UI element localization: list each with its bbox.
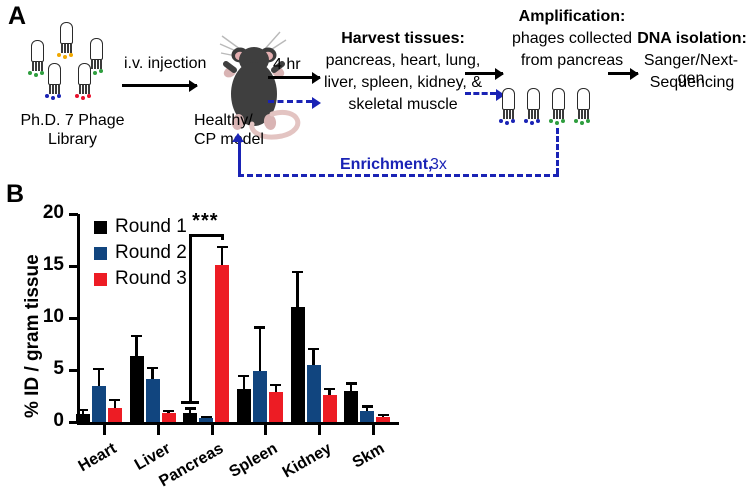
error-bar-cap xyxy=(324,388,335,390)
y-tick xyxy=(69,317,78,320)
error-bar-cap xyxy=(346,382,357,384)
phage-head xyxy=(552,88,565,110)
significance-bracket-left-cap xyxy=(181,401,199,404)
significance-stars: *** xyxy=(192,210,218,233)
enrichment-loop-vertical-left xyxy=(238,141,241,175)
phage-tail-fibers xyxy=(57,53,76,59)
legend-item: Round 3 xyxy=(94,268,187,290)
phage-head xyxy=(527,88,540,110)
x-tick xyxy=(211,425,214,435)
amplification-line2: from pancreas xyxy=(494,52,650,70)
error-bar-cap xyxy=(163,410,174,412)
bar xyxy=(108,408,122,422)
bar xyxy=(146,379,160,422)
x-axis xyxy=(77,422,399,425)
error-bar-cap xyxy=(147,367,158,369)
phage-head xyxy=(502,88,515,110)
bar xyxy=(183,413,197,422)
enrichment-loop-vertical-right xyxy=(556,128,559,174)
bar xyxy=(360,411,374,422)
significance-bracket-top xyxy=(189,234,224,237)
phage-tail-fibers xyxy=(549,119,568,125)
enrichment-label: Enrichment, xyxy=(340,156,432,174)
bar-chart: 05101520% ID / gram tissueHeartLiverPanc… xyxy=(0,188,430,488)
phage-icon xyxy=(552,88,568,125)
phage-icon xyxy=(577,88,593,125)
error-bar-cap xyxy=(109,399,120,401)
phage-head xyxy=(78,63,91,85)
mouse-label-line2: CP model xyxy=(194,131,264,149)
phage-neck xyxy=(31,62,44,71)
error-bar xyxy=(312,348,314,365)
bar xyxy=(323,395,337,422)
phage-neck xyxy=(502,110,515,119)
phage-head xyxy=(31,40,44,62)
error-bar xyxy=(259,326,261,371)
harvest-title: Harvest tissues: xyxy=(318,30,488,48)
error-bar-cap xyxy=(217,246,228,248)
phage-tail-fibers xyxy=(45,94,64,100)
phage-icon xyxy=(502,88,518,125)
phage-tail-fibers xyxy=(524,119,543,125)
amplification-line1: phages collected xyxy=(494,30,650,48)
phage-head xyxy=(60,22,73,44)
phage-icon xyxy=(48,63,64,100)
error-bar-cap xyxy=(201,416,212,418)
phage-neck xyxy=(527,110,540,119)
chart-legend: Round 1Round 2Round 3 xyxy=(94,216,187,294)
phage-head xyxy=(90,38,103,60)
error-bar-cap xyxy=(185,407,196,409)
injection-label: i.v. injection xyxy=(124,55,206,73)
figure-canvas: A Ph.D. 7 Phage Library i.v. injection xyxy=(0,0,750,488)
phage-neck xyxy=(48,85,61,94)
bar xyxy=(237,389,251,422)
phage-neck xyxy=(60,44,73,53)
bar xyxy=(344,391,358,422)
legend-label: Round 3 xyxy=(115,268,187,290)
error-bar-cap xyxy=(238,375,249,377)
phage-tail-fibers xyxy=(499,119,518,125)
phage-neck xyxy=(552,110,565,119)
bar xyxy=(199,418,213,422)
x-tick xyxy=(264,425,267,435)
harvest-line3: skeletal muscle xyxy=(318,96,488,114)
dna-title: DNA isolation: xyxy=(636,30,748,48)
phage-icon xyxy=(78,63,94,100)
phage-icon xyxy=(527,88,543,125)
error-bar xyxy=(296,271,298,306)
error-bar-cap xyxy=(292,271,303,273)
legend-item: Round 1 xyxy=(94,216,187,238)
error-bar-cap xyxy=(93,368,104,370)
error-bar-cap xyxy=(270,384,281,386)
legend-swatch xyxy=(94,273,107,286)
phage-tail-fibers xyxy=(75,94,94,100)
legend-label: Round 1 xyxy=(115,216,187,238)
mouse-label-line1: Healthy/ xyxy=(194,112,253,130)
harvest-line1: pancreas, heart, lung, xyxy=(318,52,488,70)
bar xyxy=(291,307,305,422)
x-tick xyxy=(318,425,321,435)
y-tick xyxy=(69,265,78,268)
phage-tail-fibers xyxy=(28,71,47,77)
amplification-dashed-arrow-icon xyxy=(465,92,496,95)
bar xyxy=(376,417,390,422)
enrichment-count: 3x xyxy=(430,156,447,174)
library-label-line2: Library xyxy=(10,131,135,149)
enrichment-loop-horizontal xyxy=(238,174,559,177)
phage-tail-fibers xyxy=(574,119,593,125)
error-bar-cap xyxy=(378,414,389,416)
bar xyxy=(215,265,229,422)
phage-neck xyxy=(78,85,91,94)
bar xyxy=(162,413,176,422)
time-label: 4 hr xyxy=(273,56,301,74)
phage-icon xyxy=(60,22,76,59)
dna-line2: Sequencing xyxy=(636,74,748,92)
error-bar-cap xyxy=(308,348,319,350)
bar xyxy=(269,392,283,422)
y-tick xyxy=(69,213,78,216)
error-bar xyxy=(135,335,137,357)
y-tick xyxy=(69,369,78,372)
harvest-dashed-arrow-icon xyxy=(268,100,312,103)
harvest-arrow-icon xyxy=(268,76,320,79)
error-bar xyxy=(98,368,100,386)
legend-label: Round 2 xyxy=(115,242,187,264)
bar xyxy=(253,371,267,422)
error-bar xyxy=(221,246,223,265)
bar xyxy=(92,386,106,422)
phage-icon xyxy=(31,40,47,77)
error-bar-cap xyxy=(362,405,373,407)
harvest-line2: liver, spleen, kidney, & xyxy=(318,74,488,92)
amplification-title: Amplification: xyxy=(494,8,650,26)
library-label-line1: Ph.D. 7 Phage xyxy=(10,112,135,130)
injection-arrow-icon xyxy=(122,84,197,87)
y-axis-label: % ID / gram tissue xyxy=(22,254,44,418)
phage-head xyxy=(48,63,61,85)
x-tick xyxy=(157,425,160,435)
phage-head xyxy=(577,88,590,110)
error-bar-cap xyxy=(131,335,142,337)
enrichment-arrowhead-icon xyxy=(232,133,244,142)
y-tick-label: 20 xyxy=(30,202,64,224)
error-bar-cap xyxy=(77,409,88,411)
error-bar-cap xyxy=(254,326,265,328)
bar xyxy=(76,414,90,422)
bar xyxy=(307,365,321,422)
x-tick xyxy=(103,425,106,435)
significance-bracket-left xyxy=(189,234,192,401)
amplification-arrow-icon xyxy=(465,72,503,75)
legend-item: Round 2 xyxy=(94,242,187,264)
bar xyxy=(130,356,144,422)
phage-neck xyxy=(577,110,590,119)
panel-a-letter: A xyxy=(8,4,26,29)
legend-swatch xyxy=(94,221,107,234)
x-tick xyxy=(372,425,375,435)
legend-swatch xyxy=(94,247,107,260)
